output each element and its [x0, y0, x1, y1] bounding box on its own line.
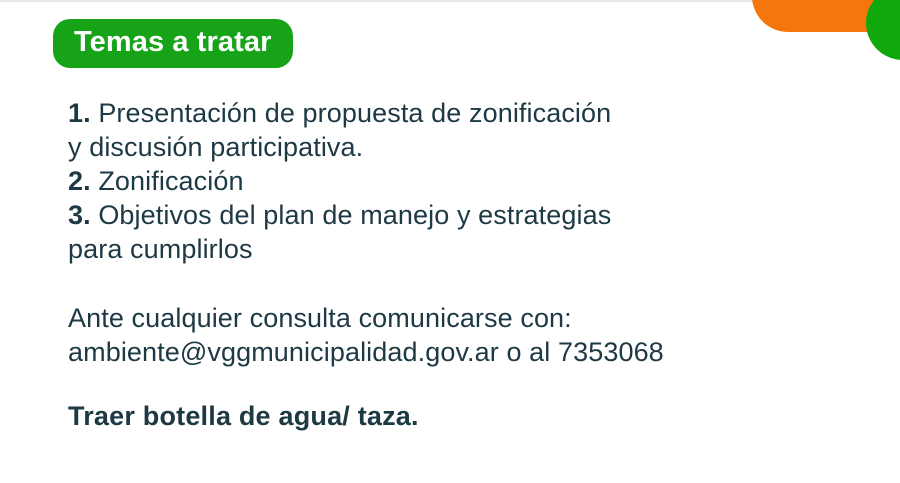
agenda-item-text: Presentación de propuesta de zonificació… [98, 98, 611, 128]
section-title-badge: Temas a tratar [53, 19, 293, 68]
orange-rounded-rectangle-icon [752, 0, 900, 32]
contact-intro-text: Ante cualquier consulta comunicarse con: [68, 301, 888, 335]
agenda-item-number: 2. [68, 166, 91, 196]
agenda-item-text: Zonificación [98, 166, 243, 196]
contact-details-text: ambiente@vggmunicipalidad.gov.ar o al 73… [68, 335, 888, 369]
agenda-item-text: Objetivos del plan de manejo y estrategi… [98, 200, 611, 230]
section-title-label: Temas a tratar [74, 27, 272, 57]
bring-your-own-note: Traer botella de agua/ taza. [68, 399, 419, 433]
list-item: 1. Presentación de propuesta de zonifica… [68, 96, 880, 164]
agenda-item-text-continued: y discusión participativa. [68, 132, 363, 162]
agenda-item-text-continued: para cumplirlos [68, 234, 253, 264]
list-item: 2. Zonificación [68, 164, 880, 198]
agenda-section: 1. Presentación de propuesta de zonifica… [68, 96, 880, 266]
list-item: 3. Objetivos del plan de manejo y estrat… [68, 198, 880, 266]
agenda-item-number: 1. [68, 98, 91, 128]
poster-canvas: Temas a tratar 1. Presentación de propue… [0, 0, 900, 483]
top-hairline-divider [0, 0, 900, 2]
green-circle-icon [866, 0, 900, 60]
agenda-item-number: 3. [68, 200, 91, 230]
contact-section: Ante cualquier consulta comunicarse con:… [68, 301, 888, 369]
agenda-list: 1. Presentación de propuesta de zonifica… [68, 96, 880, 266]
